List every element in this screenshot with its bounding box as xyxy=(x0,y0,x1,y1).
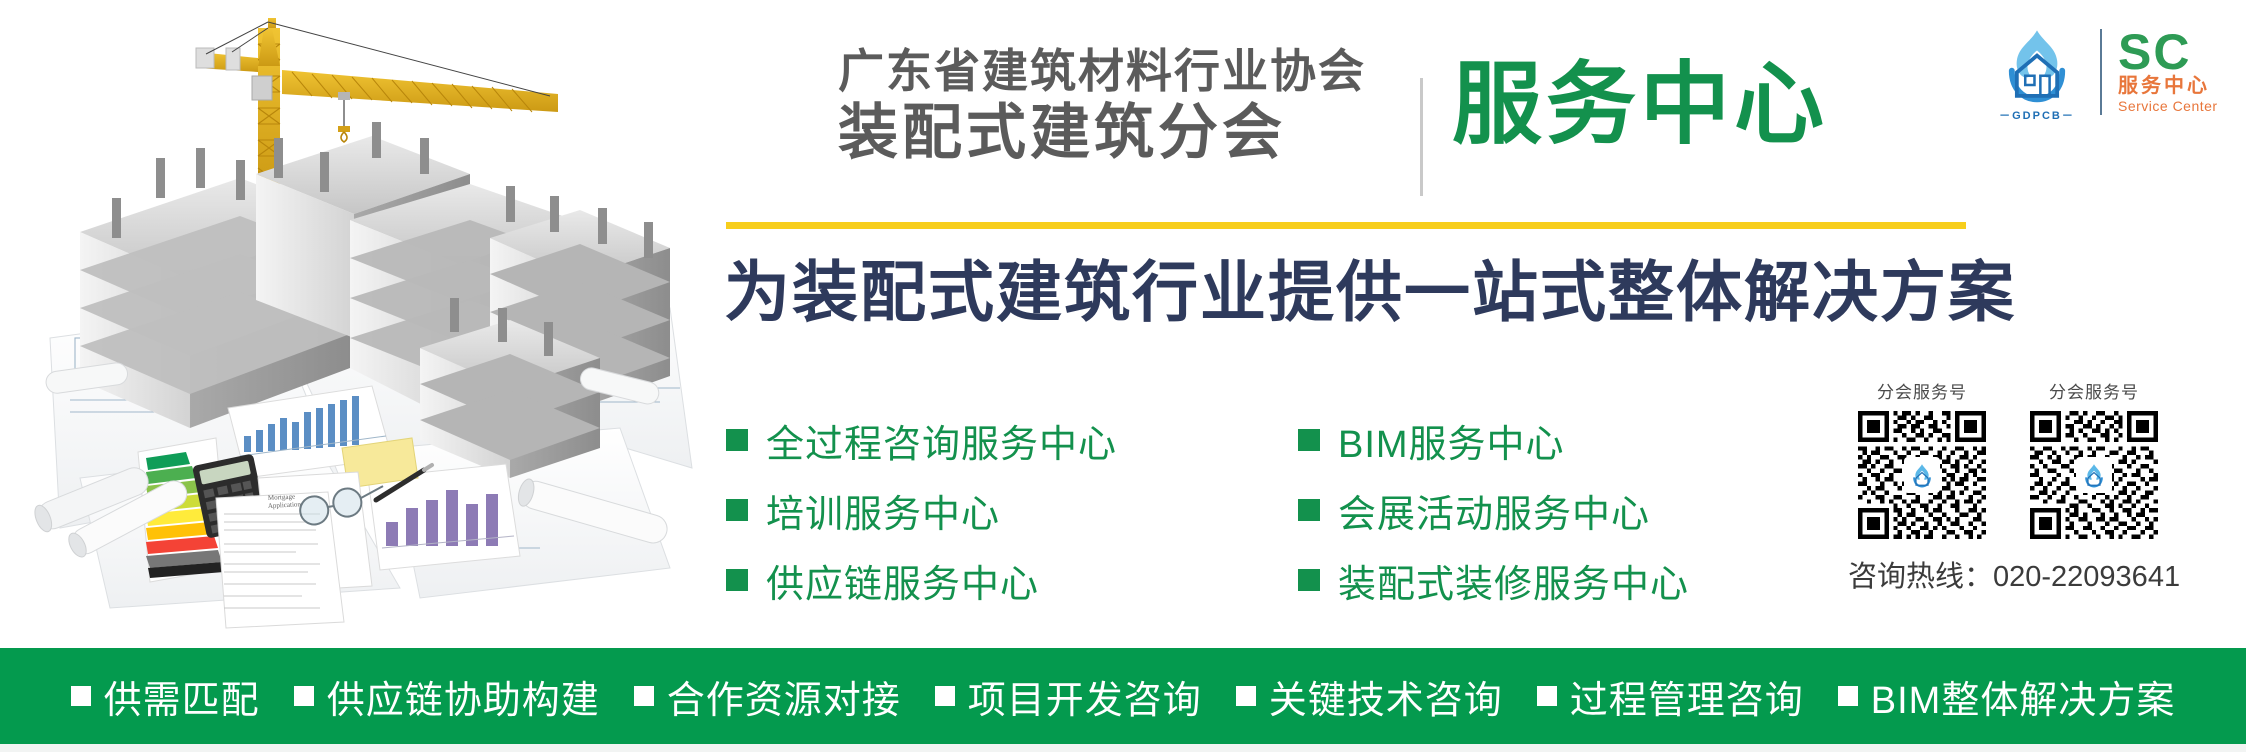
footer-service-bar: 供需匹配 供应链协助构建 合作资源对接 项目开发咨询 关键技术咨询 过程管理咨询 xyxy=(0,648,2246,744)
square-bullet-icon xyxy=(935,686,955,706)
service-item-label: 培训服务中心 xyxy=(766,483,1000,538)
square-bullet-icon xyxy=(1537,686,1557,706)
footer-item[interactable]: 供需匹配 xyxy=(71,669,260,724)
service-list-right: BIM服务中心 会展活动服务中心 装配式装修服务中心 xyxy=(1298,408,1689,618)
association-name-line2: 装配式建筑分会 xyxy=(838,103,1398,163)
square-bullet-icon xyxy=(1838,686,1858,706)
gold-divider-rule xyxy=(726,222,1966,229)
square-bullet-icon xyxy=(726,429,748,451)
footer-item[interactable]: 过程管理咨询 xyxy=(1537,669,1804,724)
vertical-divider-icon xyxy=(1420,78,1423,196)
footer-item[interactable]: 关键技术咨询 xyxy=(1236,669,1503,724)
sc-logo: SC 服务中心 Service Center xyxy=(2118,29,2218,115)
square-bullet-icon xyxy=(1298,499,1320,521)
gdpcb-house-flame-logo-icon xyxy=(1993,22,2081,106)
footer-item-label: 过程管理咨询 xyxy=(1570,669,1804,724)
footer-item-label: BIM整体解决方案 xyxy=(1871,669,2176,724)
service-item-label: 全过程咨询服务中心 xyxy=(766,413,1117,468)
association-name-line1: 广东省建筑材料行业协会 xyxy=(838,48,1398,94)
logo-separator-icon xyxy=(2100,29,2102,115)
service-item-label: 装配式装修服务中心 xyxy=(1338,553,1689,608)
square-bullet-icon xyxy=(294,686,314,706)
qr-caption: 分会服务号 xyxy=(2020,378,2168,403)
service-item[interactable]: 培训服务中心 xyxy=(726,478,1117,542)
sc-initials: SC xyxy=(2118,29,2218,75)
service-item[interactable]: 全过程咨询服务中心 xyxy=(726,408,1117,472)
qr-code-2[interactable] xyxy=(2030,411,2158,539)
qr-center-logo xyxy=(2076,457,2112,493)
qr-cell: 分会服务号 xyxy=(1848,378,1996,539)
footer-item[interactable]: 供应链协助构建 xyxy=(294,669,600,724)
footer-item[interactable]: BIM整体解决方案 xyxy=(1838,669,2176,724)
footer-bottom-strip xyxy=(0,744,2246,752)
square-bullet-icon xyxy=(1298,429,1320,451)
qr-code-1[interactable] xyxy=(1858,411,1986,539)
service-item[interactable]: 装配式装修服务中心 xyxy=(1298,548,1689,612)
hotline-text: 咨询热线：020-22093641 xyxy=(1848,553,2178,595)
footer-item-label: 关键技术咨询 xyxy=(1269,669,1503,724)
footer-item-label: 项目开发咨询 xyxy=(968,669,1202,724)
service-item-label: 供应链服务中心 xyxy=(766,553,1039,608)
square-bullet-icon xyxy=(634,686,654,706)
gdpcb-logo: －GDPCB－ xyxy=(1990,22,2084,123)
square-bullet-icon xyxy=(1236,686,1256,706)
footer-item-label: 供应链协助构建 xyxy=(327,669,600,724)
construction-illustration: Mortgage Application xyxy=(20,8,710,640)
banner-root: Mortgage Application 广东省建筑材料行业协会 装配式建筑分会… xyxy=(0,0,2246,752)
qr-center-logo xyxy=(1904,457,1940,493)
service-list-left: 全过程咨询服务中心 培训服务中心 供应链服务中心 xyxy=(726,408,1117,618)
qr-caption: 分会服务号 xyxy=(1848,378,1996,403)
square-bullet-icon xyxy=(71,686,91,706)
service-item[interactable]: 会展活动服务中心 xyxy=(1298,478,1689,542)
qr-cell: 分会服务号 xyxy=(2020,378,2168,539)
footer-item[interactable]: 项目开发咨询 xyxy=(935,669,1202,724)
logo-area: －GDPCB－ SC 服务中心 Service Center xyxy=(1990,18,2240,126)
footer-item[interactable]: 合作资源对接 xyxy=(634,669,901,724)
service-item[interactable]: 供应链服务中心 xyxy=(726,548,1117,612)
service-item[interactable]: BIM服务中心 xyxy=(1298,408,1689,472)
square-bullet-icon xyxy=(726,569,748,591)
main-headline: 为装配式建筑行业提供一站式整体解决方案 xyxy=(724,256,2016,330)
gdpcb-logo-text: －GDPCB－ xyxy=(1990,107,2084,123)
gdpcb-logo-icon xyxy=(2079,460,2109,490)
service-center-title: 服务中心 xyxy=(1452,58,1828,153)
qr-code-section: 分会服务号 xyxy=(1848,378,2178,595)
square-bullet-icon xyxy=(1298,569,1320,591)
sc-chinese-label: 服务中心 xyxy=(2118,75,2218,98)
sc-english-label: Service Center xyxy=(2118,98,2218,115)
gdpcb-logo-icon xyxy=(1907,460,1937,490)
service-item-label: 会展活动服务中心 xyxy=(1338,483,1650,538)
association-title-block: 广东省建筑材料行业协会 装配式建筑分会 xyxy=(838,48,1398,163)
footer-item-label: 供需匹配 xyxy=(104,669,260,724)
service-item-label: BIM服务中心 xyxy=(1338,413,1565,468)
square-bullet-icon xyxy=(726,499,748,521)
footer-item-label: 合作资源对接 xyxy=(667,669,901,724)
